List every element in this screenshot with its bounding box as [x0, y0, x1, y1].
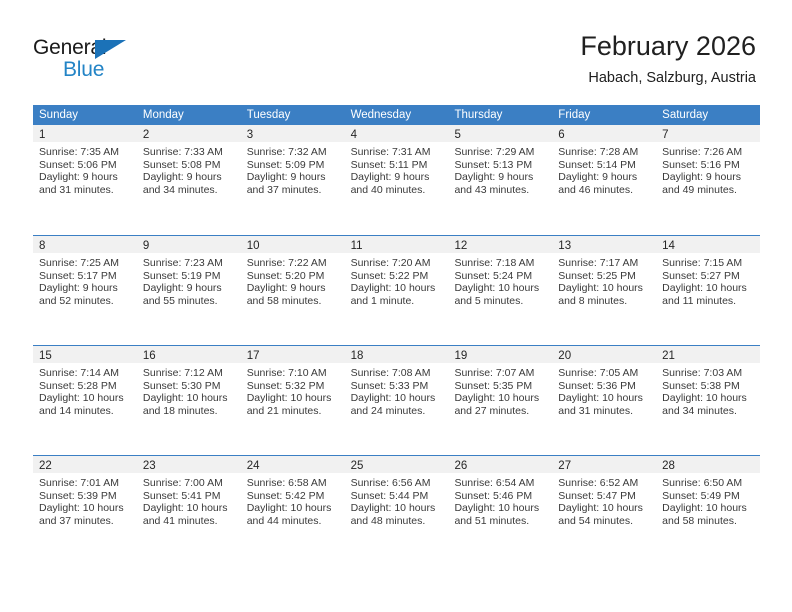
day-number-band: 19: [448, 346, 552, 363]
day-cell[interactable]: 26 Sunrise: 6:54 AM Sunset: 5:46 PM Dayl…: [448, 456, 552, 565]
daylight-text-line1: Daylight: 9 hours: [143, 282, 235, 295]
sunrise-text: Sunrise: 6:56 AM: [351, 477, 443, 490]
day-cell[interactable]: 24 Sunrise: 6:58 AM Sunset: 5:42 PM Dayl…: [241, 456, 345, 565]
day-number-band: 14: [656, 236, 760, 253]
day-number-band: 28: [656, 456, 760, 473]
sunset-text: Sunset: 5:47 PM: [558, 490, 650, 503]
day-number: 18: [351, 350, 364, 362]
sunrise-text: Sunrise: 6:58 AM: [247, 477, 339, 490]
day-details: Sunrise: 7:29 AM Sunset: 5:13 PM Dayligh…: [448, 142, 552, 196]
daylight-text-line1: Daylight: 9 hours: [39, 282, 131, 295]
day-details: Sunrise: 7:33 AM Sunset: 5:08 PM Dayligh…: [137, 142, 241, 196]
day-details: Sunrise: 7:18 AM Sunset: 5:24 PM Dayligh…: [448, 253, 552, 307]
daylight-text-line2: and 49 minutes.: [662, 184, 754, 197]
day-cell[interactable]: 6 Sunrise: 7:28 AM Sunset: 5:14 PM Dayli…: [552, 125, 656, 235]
day-number: 22: [39, 460, 52, 472]
sunrise-text: Sunrise: 7:29 AM: [454, 146, 546, 159]
page-title: February 2026: [580, 30, 756, 62]
daylight-text-line2: and 34 minutes.: [662, 405, 754, 418]
daylight-text-line2: and 18 minutes.: [143, 405, 235, 418]
sunset-text: Sunset: 5:27 PM: [662, 270, 754, 283]
daylight-text-line2: and 55 minutes.: [143, 295, 235, 308]
day-number: 19: [454, 350, 467, 362]
daylight-text-line1: Daylight: 10 hours: [558, 392, 650, 405]
day-number-band: 22: [33, 456, 137, 473]
sunrise-text: Sunrise: 6:52 AM: [558, 477, 650, 490]
day-cell[interactable]: 3 Sunrise: 7:32 AM Sunset: 5:09 PM Dayli…: [241, 125, 345, 235]
daylight-text-line2: and 24 minutes.: [351, 405, 443, 418]
day-number-band: 4: [345, 125, 449, 142]
sunset-text: Sunset: 5:22 PM: [351, 270, 443, 283]
daylight-text-line2: and 31 minutes.: [39, 184, 131, 197]
day-cell[interactable]: 25 Sunrise: 6:56 AM Sunset: 5:44 PM Dayl…: [345, 456, 449, 565]
day-number-band: 15: [33, 346, 137, 363]
page-subtitle: Habach, Salzburg, Austria: [580, 68, 756, 88]
weekday-header-row: Sunday Monday Tuesday Wednesday Thursday…: [33, 105, 760, 125]
daylight-text-line1: Daylight: 10 hours: [662, 502, 754, 515]
weekday-header-thursday: Thursday: [448, 105, 552, 125]
day-details: Sunrise: 7:22 AM Sunset: 5:20 PM Dayligh…: [241, 253, 345, 307]
day-number: 13: [558, 240, 571, 252]
day-cell[interactable]: 4 Sunrise: 7:31 AM Sunset: 5:11 PM Dayli…: [345, 125, 449, 235]
day-number-band: 1: [33, 125, 137, 142]
sunrise-text: Sunrise: 6:50 AM: [662, 477, 754, 490]
daylight-text-line1: Daylight: 10 hours: [39, 502, 131, 515]
day-details: Sunrise: 7:10 AM Sunset: 5:32 PM Dayligh…: [241, 363, 345, 417]
sunset-text: Sunset: 5:24 PM: [454, 270, 546, 283]
sunrise-text: Sunrise: 7:31 AM: [351, 146, 443, 159]
weekday-header-saturday: Saturday: [656, 105, 760, 125]
day-details: Sunrise: 6:50 AM Sunset: 5:49 PM Dayligh…: [656, 473, 760, 527]
day-number: 2: [143, 129, 149, 141]
sunset-text: Sunset: 5:38 PM: [662, 380, 754, 393]
day-cell[interactable]: 1 Sunrise: 7:35 AM Sunset: 5:06 PM Dayli…: [33, 125, 137, 235]
day-details: Sunrise: 7:31 AM Sunset: 5:11 PM Dayligh…: [345, 142, 449, 196]
day-details: Sunrise: 6:58 AM Sunset: 5:42 PM Dayligh…: [241, 473, 345, 527]
page-header: General Blue February 2026 Habach, Salzb…: [0, 0, 792, 100]
sunrise-text: Sunrise: 7:33 AM: [143, 146, 235, 159]
day-number: 14: [662, 240, 675, 252]
sunrise-text: Sunrise: 7:08 AM: [351, 367, 443, 380]
week-row: 1 Sunrise: 7:35 AM Sunset: 5:06 PM Dayli…: [33, 125, 760, 235]
day-number: 20: [558, 350, 571, 362]
sunrise-text: Sunrise: 7:07 AM: [454, 367, 546, 380]
daylight-text-line1: Daylight: 10 hours: [247, 392, 339, 405]
daylight-text-line1: Daylight: 9 hours: [351, 171, 443, 184]
day-details: Sunrise: 7:26 AM Sunset: 5:16 PM Dayligh…: [656, 142, 760, 196]
daylight-text-line2: and 43 minutes.: [454, 184, 546, 197]
daylight-text-line1: Daylight: 10 hours: [143, 392, 235, 405]
day-number-band: 10: [241, 236, 345, 253]
calendar-grid: Sunday Monday Tuesday Wednesday Thursday…: [33, 105, 760, 565]
daylight-text-line1: Daylight: 10 hours: [351, 502, 443, 515]
day-number-band: 21: [656, 346, 760, 363]
day-cell[interactable]: 9 Sunrise: 7:23 AM Sunset: 5:19 PM Dayli…: [137, 236, 241, 345]
daylight-text-line2: and 46 minutes.: [558, 184, 650, 197]
sunset-text: Sunset: 5:09 PM: [247, 159, 339, 172]
sunset-text: Sunset: 5:42 PM: [247, 490, 339, 503]
day-number: 16: [143, 350, 156, 362]
day-number: 8: [39, 240, 45, 252]
day-number: 17: [247, 350, 260, 362]
week-row: 15 Sunrise: 7:14 AM Sunset: 5:28 PM Dayl…: [33, 345, 760, 455]
sunrise-text: Sunrise: 7:01 AM: [39, 477, 131, 490]
daylight-text-line2: and 31 minutes.: [558, 405, 650, 418]
daylight-text-line1: Daylight: 10 hours: [143, 502, 235, 515]
brand-logo-text-blue: Blue: [63, 58, 104, 82]
weekday-header-monday: Monday: [137, 105, 241, 125]
day-number: 25: [351, 460, 364, 472]
daylight-text-line2: and 54 minutes.: [558, 515, 650, 528]
day-number-band: 6: [552, 125, 656, 142]
day-details: Sunrise: 6:54 AM Sunset: 5:46 PM Dayligh…: [448, 473, 552, 527]
sunrise-text: Sunrise: 7:23 AM: [143, 257, 235, 270]
daylight-text-line1: Daylight: 9 hours: [558, 171, 650, 184]
sunset-text: Sunset: 5:28 PM: [39, 380, 131, 393]
day-details: Sunrise: 7:23 AM Sunset: 5:19 PM Dayligh…: [137, 253, 241, 307]
daylight-text-line1: Daylight: 9 hours: [454, 171, 546, 184]
daylight-text-line1: Daylight: 10 hours: [247, 502, 339, 515]
day-details: Sunrise: 7:17 AM Sunset: 5:25 PM Dayligh…: [552, 253, 656, 307]
title-block: February 2026 Habach, Salzburg, Austria: [580, 30, 756, 88]
day-number: 6: [558, 129, 564, 141]
day-number: 10: [247, 240, 260, 252]
daylight-text-line2: and 40 minutes.: [351, 184, 443, 197]
sunrise-text: Sunrise: 7:17 AM: [558, 257, 650, 270]
day-cell[interactable]: 16 Sunrise: 7:12 AM Sunset: 5:30 PM Dayl…: [137, 346, 241, 455]
daylight-text-line2: and 37 minutes.: [247, 184, 339, 197]
daylight-text-line1: Daylight: 9 hours: [662, 171, 754, 184]
daylight-text-line1: Daylight: 9 hours: [143, 171, 235, 184]
sunrise-text: Sunrise: 7:14 AM: [39, 367, 131, 380]
sunset-text: Sunset: 5:14 PM: [558, 159, 650, 172]
day-details: Sunrise: 6:52 AM Sunset: 5:47 PM Dayligh…: [552, 473, 656, 527]
sunset-text: Sunset: 5:13 PM: [454, 159, 546, 172]
sunset-text: Sunset: 5:33 PM: [351, 380, 443, 393]
day-number-band: 2: [137, 125, 241, 142]
daylight-text-line1: Daylight: 10 hours: [351, 282, 443, 295]
day-details: Sunrise: 7:14 AM Sunset: 5:28 PM Dayligh…: [33, 363, 137, 417]
daylight-text-line2: and 48 minutes.: [351, 515, 443, 528]
day-number: 23: [143, 460, 156, 472]
day-number: 21: [662, 350, 675, 362]
day-cell[interactable]: 14 Sunrise: 7:15 AM Sunset: 5:27 PM Dayl…: [656, 236, 760, 345]
day-number: 5: [454, 129, 460, 141]
daylight-text-line2: and 27 minutes.: [454, 405, 546, 418]
sunset-text: Sunset: 5:08 PM: [143, 159, 235, 172]
daylight-text-line2: and 44 minutes.: [247, 515, 339, 528]
day-cell[interactable]: 10 Sunrise: 7:22 AM Sunset: 5:20 PM Dayl…: [241, 236, 345, 345]
sunrise-text: Sunrise: 6:54 AM: [454, 477, 546, 490]
day-number-band: 17: [241, 346, 345, 363]
sunrise-text: Sunrise: 7:00 AM: [143, 477, 235, 490]
day-number-band: 11: [345, 236, 449, 253]
week-row: 22 Sunrise: 7:01 AM Sunset: 5:39 PM Dayl…: [33, 455, 760, 565]
sunrise-text: Sunrise: 7:35 AM: [39, 146, 131, 159]
day-details: Sunrise: 6:56 AM Sunset: 5:44 PM Dayligh…: [345, 473, 449, 527]
day-cell[interactable]: 28 Sunrise: 6:50 AM Sunset: 5:49 PM Dayl…: [656, 456, 760, 565]
daylight-text-line1: Daylight: 10 hours: [454, 392, 546, 405]
daylight-text-line2: and 34 minutes.: [143, 184, 235, 197]
day-number-band: 7: [656, 125, 760, 142]
daylight-text-line2: and 21 minutes.: [247, 405, 339, 418]
daylight-text-line1: Daylight: 10 hours: [558, 282, 650, 295]
day-number-band: 20: [552, 346, 656, 363]
day-number: 3: [247, 129, 253, 141]
day-cell[interactable]: 27 Sunrise: 6:52 AM Sunset: 5:47 PM Dayl…: [552, 456, 656, 565]
day-number: 4: [351, 129, 357, 141]
day-cell[interactable]: 11 Sunrise: 7:20 AM Sunset: 5:22 PM Dayl…: [345, 236, 449, 345]
day-cell[interactable]: 21 Sunrise: 7:03 AM Sunset: 5:38 PM Dayl…: [656, 346, 760, 455]
day-number: 11: [351, 240, 363, 252]
day-details: Sunrise: 7:08 AM Sunset: 5:33 PM Dayligh…: [345, 363, 449, 417]
daylight-text-line1: Daylight: 10 hours: [351, 392, 443, 405]
day-details: Sunrise: 7:25 AM Sunset: 5:17 PM Dayligh…: [33, 253, 137, 307]
daylight-text-line1: Daylight: 10 hours: [558, 502, 650, 515]
day-details: Sunrise: 7:12 AM Sunset: 5:30 PM Dayligh…: [137, 363, 241, 417]
day-number: 1: [39, 129, 45, 141]
daylight-text-line2: and 1 minute.: [351, 295, 443, 308]
weekday-header-sunday: Sunday: [33, 105, 137, 125]
daylight-text-line2: and 58 minutes.: [247, 295, 339, 308]
day-number-band: 5: [448, 125, 552, 142]
weekday-header-friday: Friday: [552, 105, 656, 125]
day-number-band: 9: [137, 236, 241, 253]
day-details: Sunrise: 7:15 AM Sunset: 5:27 PM Dayligh…: [656, 253, 760, 307]
day-number-band: 12: [448, 236, 552, 253]
day-cell[interactable]: 13 Sunrise: 7:17 AM Sunset: 5:25 PM Dayl…: [552, 236, 656, 345]
day-number: 12: [454, 240, 467, 252]
sunrise-text: Sunrise: 7:32 AM: [247, 146, 339, 159]
day-number: 7: [662, 129, 668, 141]
day-number: 9: [143, 240, 149, 252]
day-cell[interactable]: 7 Sunrise: 7:26 AM Sunset: 5:16 PM Dayli…: [656, 125, 760, 235]
sunset-text: Sunset: 5:44 PM: [351, 490, 443, 503]
sunrise-text: Sunrise: 7:15 AM: [662, 257, 754, 270]
sunset-text: Sunset: 5:30 PM: [143, 380, 235, 393]
daylight-text-line2: and 5 minutes.: [454, 295, 546, 308]
day-number-band: 23: [137, 456, 241, 473]
triangle-flag-icon: [95, 40, 126, 59]
day-number: 28: [662, 460, 675, 472]
sunset-text: Sunset: 5:49 PM: [662, 490, 754, 503]
sunrise-text: Sunrise: 7:03 AM: [662, 367, 754, 380]
daylight-text-line1: Daylight: 9 hours: [247, 171, 339, 184]
sunset-text: Sunset: 5:20 PM: [247, 270, 339, 283]
day-cell[interactable]: 22 Sunrise: 7:01 AM Sunset: 5:39 PM Dayl…: [33, 456, 137, 565]
sunset-text: Sunset: 5:32 PM: [247, 380, 339, 393]
sunset-text: Sunset: 5:11 PM: [351, 159, 443, 172]
sunset-text: Sunset: 5:16 PM: [662, 159, 754, 172]
day-number-band: 26: [448, 456, 552, 473]
sunset-text: Sunset: 5:19 PM: [143, 270, 235, 283]
daylight-text-line1: Daylight: 10 hours: [662, 282, 754, 295]
day-number-band: 24: [241, 456, 345, 473]
weekday-header-tuesday: Tuesday: [241, 105, 345, 125]
daylight-text-line2: and 52 minutes.: [39, 295, 131, 308]
sunset-text: Sunset: 5:06 PM: [39, 159, 131, 172]
sunrise-text: Sunrise: 7:05 AM: [558, 367, 650, 380]
day-details: Sunrise: 7:07 AM Sunset: 5:35 PM Dayligh…: [448, 363, 552, 417]
day-number-band: 18: [345, 346, 449, 363]
weekday-header-wednesday: Wednesday: [345, 105, 449, 125]
day-cell[interactable]: 23 Sunrise: 7:00 AM Sunset: 5:41 PM Dayl…: [137, 456, 241, 565]
daylight-text-line1: Daylight: 10 hours: [454, 502, 546, 515]
calendar-page: General Blue February 2026 Habach, Salzb…: [0, 0, 792, 612]
week-row: 8 Sunrise: 7:25 AM Sunset: 5:17 PM Dayli…: [33, 235, 760, 345]
sunset-text: Sunset: 5:36 PM: [558, 380, 650, 393]
sunset-text: Sunset: 5:39 PM: [39, 490, 131, 503]
daylight-text-line1: Daylight: 10 hours: [454, 282, 546, 295]
day-details: Sunrise: 7:28 AM Sunset: 5:14 PM Dayligh…: [552, 142, 656, 196]
sunset-text: Sunset: 5:46 PM: [454, 490, 546, 503]
daylight-text-line1: Daylight: 10 hours: [39, 392, 131, 405]
day-details: Sunrise: 7:32 AM Sunset: 5:09 PM Dayligh…: [241, 142, 345, 196]
day-cell[interactable]: 5 Sunrise: 7:29 AM Sunset: 5:13 PM Dayli…: [448, 125, 552, 235]
sunrise-text: Sunrise: 7:25 AM: [39, 257, 131, 270]
day-details: Sunrise: 7:20 AM Sunset: 5:22 PM Dayligh…: [345, 253, 449, 307]
sunrise-text: Sunrise: 7:20 AM: [351, 257, 443, 270]
sunrise-text: Sunrise: 7:18 AM: [454, 257, 546, 270]
daylight-text-line1: Daylight: 10 hours: [662, 392, 754, 405]
daylight-text-line2: and 51 minutes.: [454, 515, 546, 528]
day-number-band: 13: [552, 236, 656, 253]
day-number-band: 3: [241, 125, 345, 142]
daylight-text-line2: and 37 minutes.: [39, 515, 131, 528]
day-number: 15: [39, 350, 52, 362]
sunrise-text: Sunrise: 7:12 AM: [143, 367, 235, 380]
sunset-text: Sunset: 5:41 PM: [143, 490, 235, 503]
day-cell[interactable]: 15 Sunrise: 7:14 AM Sunset: 5:28 PM Dayl…: [33, 346, 137, 455]
day-number-band: 16: [137, 346, 241, 363]
day-details: Sunrise: 7:01 AM Sunset: 5:39 PM Dayligh…: [33, 473, 137, 527]
day-cell[interactable]: 2 Sunrise: 7:33 AM Sunset: 5:08 PM Dayli…: [137, 125, 241, 235]
day-cell[interactable]: 17 Sunrise: 7:10 AM Sunset: 5:32 PM Dayl…: [241, 346, 345, 455]
daylight-text-line2: and 41 minutes.: [143, 515, 235, 528]
daylight-text-line2: and 8 minutes.: [558, 295, 650, 308]
day-number-band: 27: [552, 456, 656, 473]
day-cell[interactable]: 12 Sunrise: 7:18 AM Sunset: 5:24 PM Dayl…: [448, 236, 552, 345]
daylight-text-line2: and 14 minutes.: [39, 405, 131, 418]
day-number-band: 8: [33, 236, 137, 253]
daylight-text-line2: and 11 minutes.: [662, 295, 754, 308]
sunrise-text: Sunrise: 7:10 AM: [247, 367, 339, 380]
day-details: Sunrise: 7:05 AM Sunset: 5:36 PM Dayligh…: [552, 363, 656, 417]
day-cell[interactable]: 18 Sunrise: 7:08 AM Sunset: 5:33 PM Dayl…: [345, 346, 449, 455]
day-details: Sunrise: 7:03 AM Sunset: 5:38 PM Dayligh…: [656, 363, 760, 417]
sunset-text: Sunset: 5:17 PM: [39, 270, 131, 283]
sunset-text: Sunset: 5:25 PM: [558, 270, 650, 283]
sunrise-text: Sunrise: 7:22 AM: [247, 257, 339, 270]
sunset-text: Sunset: 5:35 PM: [454, 380, 546, 393]
day-number: 24: [247, 460, 260, 472]
day-cell[interactable]: 19 Sunrise: 7:07 AM Sunset: 5:35 PM Dayl…: [448, 346, 552, 455]
daylight-text-line1: Daylight: 9 hours: [39, 171, 131, 184]
day-number: 27: [558, 460, 571, 472]
day-number-band: 25: [345, 456, 449, 473]
day-cell[interactable]: 20 Sunrise: 7:05 AM Sunset: 5:36 PM Dayl…: [552, 346, 656, 455]
daylight-text-line2: and 58 minutes.: [662, 515, 754, 528]
sunrise-text: Sunrise: 7:26 AM: [662, 146, 754, 159]
day-details: Sunrise: 7:35 AM Sunset: 5:06 PM Dayligh…: [33, 142, 137, 196]
day-details: Sunrise: 7:00 AM Sunset: 5:41 PM Dayligh…: [137, 473, 241, 527]
day-cell[interactable]: 8 Sunrise: 7:25 AM Sunset: 5:17 PM Dayli…: [33, 236, 137, 345]
day-number: 26: [454, 460, 467, 472]
sunrise-text: Sunrise: 7:28 AM: [558, 146, 650, 159]
brand-logo[interactable]: General Blue: [33, 36, 163, 84]
daylight-text-line1: Daylight: 9 hours: [247, 282, 339, 295]
